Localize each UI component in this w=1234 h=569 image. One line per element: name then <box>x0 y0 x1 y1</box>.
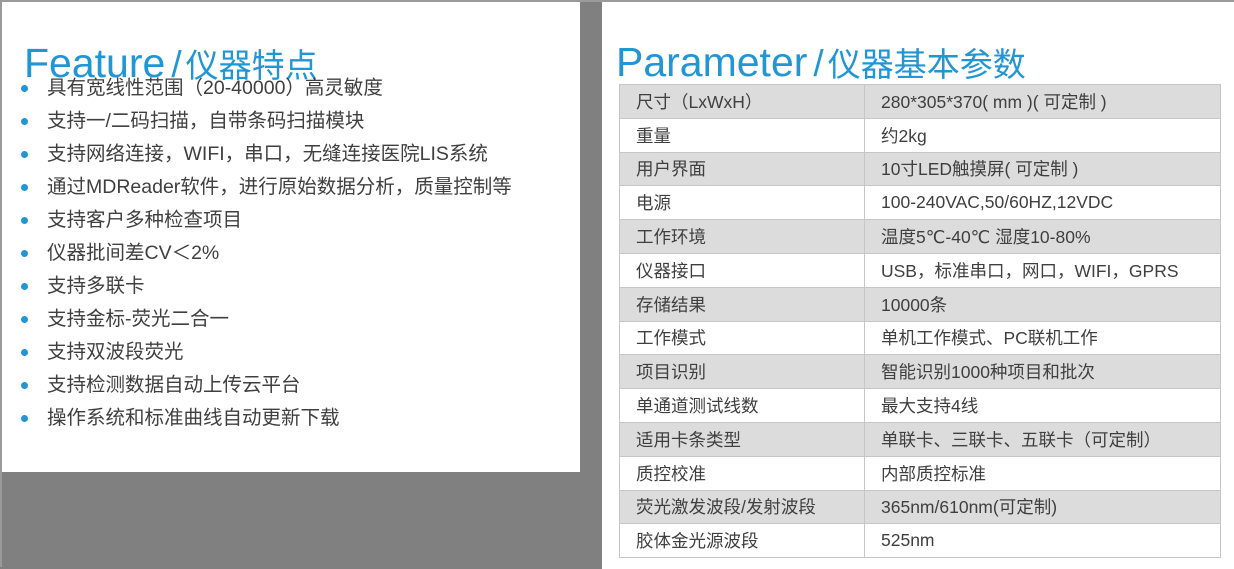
list-item: 具有宽线性范围（20-40000）高灵敏度 <box>16 72 576 105</box>
table-row: 项目识别智能识别1000种项目和批次 <box>620 355 1221 389</box>
bullet-dot-icon <box>21 250 28 257</box>
bullet-dot-icon <box>21 184 28 191</box>
specification-table-body: 尺寸（LxWxH）280*305*370( mm )( 可定制 ) 重量约2kg… <box>620 85 1221 558</box>
table-cell-key: 用户界面 <box>620 152 865 186</box>
table-cell-key: 仪器接口 <box>620 253 865 287</box>
feature-list: 具有宽线性范围（20-40000）高灵敏度 支持一/二码扫描，自带条码扫描模块 … <box>16 72 576 435</box>
parameter-title-english: Parameter <box>616 39 807 85</box>
table-row: 工作模式单机工作模式、PC联机工作 <box>620 321 1221 355</box>
table-cell-key: 尺寸（LxWxH） <box>620 85 865 119</box>
list-item: 支持多联卡 <box>16 270 576 303</box>
list-item-label: 支持检测数据自动上传云平台 <box>47 374 301 396</box>
list-item-label: 支持金标-荧光二合一 <box>47 308 229 330</box>
list-item: 支持一/二码扫描，自带条码扫描模块 <box>16 105 576 138</box>
list-item-label: 支持双波段荧光 <box>47 341 184 363</box>
table-row: 仪器接口USB，标准串口，网口，WIFI，GPRS <box>620 253 1221 287</box>
table-cell-key: 质控校准 <box>620 456 865 490</box>
bullet-dot-icon <box>21 316 28 323</box>
page-root: Feature/仪器特点 具有宽线性范围（20-40000）高灵敏度 支持一/二… <box>0 0 1234 567</box>
table-cell-key: 适用卡条类型 <box>620 422 865 456</box>
table-cell-value: 最大支持4线 <box>865 389 1221 423</box>
table-cell-value: 内部质控标准 <box>865 456 1221 490</box>
list-item-label: 具有宽线性范围（20-40000）高灵敏度 <box>47 77 383 99</box>
table-row: 重量约2kg <box>620 118 1221 152</box>
bullet-dot-icon <box>21 85 28 92</box>
table-cell-key: 电源 <box>620 186 865 220</box>
table-cell-key: 胶体金光源波段 <box>620 524 865 558</box>
table-cell-value: 单机工作模式、PC联机工作 <box>865 321 1221 355</box>
table-row: 质控校准内部质控标准 <box>620 456 1221 490</box>
parameter-title-chinese: 仪器基本参数 <box>828 46 1026 83</box>
table-cell-value: 10寸LED触摸屏( 可定制 ) <box>865 152 1221 186</box>
list-item-label: 支持网络连接，WIFI，串口，无缝连接医院LIS系统 <box>47 143 488 165</box>
table-cell-key: 项目识别 <box>620 355 865 389</box>
list-item: 支持检测数据自动上传云平台 <box>16 369 576 402</box>
table-cell-key: 荧光激发波段/发射波段 <box>620 490 865 524</box>
list-item-label: 支持客户多种检查项目 <box>47 209 242 231</box>
bullet-dot-icon <box>21 382 28 389</box>
list-item-label: 仪器批间差CV＜2% <box>47 242 219 264</box>
table-cell-value: 525nm <box>865 524 1221 558</box>
table-cell-value: USB，标准串口，网口，WIFI，GPRS <box>865 253 1221 287</box>
parameter-panel: Parameter/仪器基本参数 尺寸（LxWxH）280*305*370( m… <box>602 2 1234 569</box>
list-item-label: 通过MDReader软件，进行原始数据分析，质量控制等 <box>47 176 512 198</box>
bullet-dot-icon <box>21 283 28 290</box>
list-item: 支持客户多种检查项目 <box>16 204 576 237</box>
table-cell-value: 365nm/610nm(可定制) <box>865 490 1221 524</box>
table-cell-value: 温度5℃-40℃ 湿度10-80% <box>865 220 1221 254</box>
table-cell-key: 单通道测试线数 <box>620 389 865 423</box>
list-item: 支持金标-荧光二合一 <box>16 303 576 336</box>
list-item-label: 支持多联卡 <box>47 275 145 297</box>
table-cell-value: 100-240VAC,50/60HZ,12VDC <box>865 186 1221 220</box>
specification-table: 尺寸（LxWxH）280*305*370( mm )( 可定制 ) 重量约2kg… <box>619 84 1221 558</box>
bullet-dot-icon <box>21 217 28 224</box>
table-row: 尺寸（LxWxH）280*305*370( mm )( 可定制 ) <box>620 85 1221 119</box>
list-item: 通过MDReader软件，进行原始数据分析，质量控制等 <box>16 171 576 204</box>
table-cell-value: 单联卡、三联卡、五联卡（可定制） <box>865 422 1221 456</box>
table-cell-value: 280*305*370( mm )( 可定制 ) <box>865 85 1221 119</box>
table-row: 适用卡条类型单联卡、三联卡、五联卡（可定制） <box>620 422 1221 456</box>
table-row: 胶体金光源波段525nm <box>620 524 1221 558</box>
table-cell-value: 10000条 <box>865 287 1221 321</box>
list-item: 仪器批间差CV＜2% <box>16 237 576 270</box>
bullet-dot-icon <box>21 415 28 422</box>
list-item: 支持网络连接，WIFI，串口，无缝连接医院LIS系统 <box>16 138 576 171</box>
feature-panel: Feature/仪器特点 具有宽线性范围（20-40000）高灵敏度 支持一/二… <box>2 2 580 472</box>
table-cell-key: 重量 <box>620 118 865 152</box>
table-row: 工作环境温度5℃-40℃ 湿度10-80% <box>620 220 1221 254</box>
table-cell-key: 存储结果 <box>620 287 865 321</box>
table-cell-key: 工作模式 <box>620 321 865 355</box>
parameter-title-separator: / <box>807 43 827 84</box>
list-item: 支持双波段荧光 <box>16 336 576 369</box>
bullet-dot-icon <box>21 151 28 158</box>
table-row: 单通道测试线数最大支持4线 <box>620 389 1221 423</box>
table-row: 荧光激发波段/发射波段365nm/610nm(可定制) <box>620 490 1221 524</box>
table-row: 存储结果10000条 <box>620 287 1221 321</box>
bullet-dot-icon <box>21 118 28 125</box>
bullet-dot-icon <box>21 349 28 356</box>
table-cell-value: 智能识别1000种项目和批次 <box>865 355 1221 389</box>
table-row: 电源100-240VAC,50/60HZ,12VDC <box>620 186 1221 220</box>
table-cell-key: 工作环境 <box>620 220 865 254</box>
list-item-label: 操作系统和标准曲线自动更新下载 <box>47 407 340 429</box>
list-item-label: 支持一/二码扫描，自带条码扫描模块 <box>47 110 364 132</box>
table-cell-value: 约2kg <box>865 118 1221 152</box>
list-item: 操作系统和标准曲线自动更新下载 <box>16 402 576 435</box>
table-row: 用户界面10寸LED触摸屏( 可定制 ) <box>620 152 1221 186</box>
